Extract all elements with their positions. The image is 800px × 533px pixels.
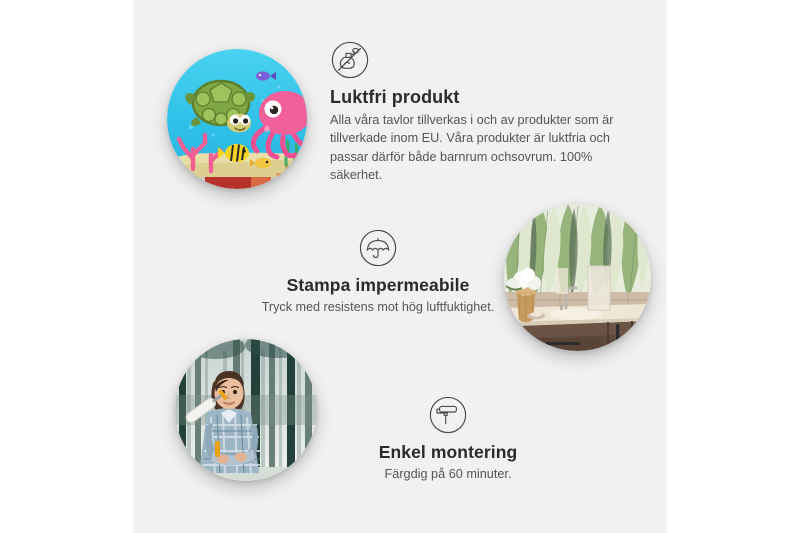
feature-mounting: Enkel montering Färgdig på 60 minuter. (318, 396, 578, 484)
feature-waterproof: Stampa impermeabile Tryck med resistens … (213, 229, 543, 316)
promo-infographic: Luktfri produkt Alla våra tavlor tillver… (0, 0, 800, 533)
umbrella-icon (359, 229, 397, 267)
feature-title: Luktfri produkt (330, 87, 626, 108)
paint-roller-icon (429, 396, 467, 434)
feature-description: Tryck med resistens mot hög luftfuktighe… (213, 298, 543, 316)
content-panel: Luktfri produkt Alla våra tavlor tillver… (133, 0, 667, 533)
feature-description: Alla våra tavlor tillverkas i och av pro… (330, 111, 626, 185)
no-fragrance-spray-bottle-icon (331, 41, 369, 79)
feature-title: Stampa impermeabile (213, 275, 543, 295)
feature-title: Enkel montering (318, 442, 578, 462)
feature-odourless: Luktfri produkt Alla våra tavlor tillver… (330, 41, 626, 184)
photo-underwater (167, 49, 307, 189)
photo-forest (175, 339, 317, 481)
feature-description: Färgdig på 60 minuter. (318, 465, 578, 483)
